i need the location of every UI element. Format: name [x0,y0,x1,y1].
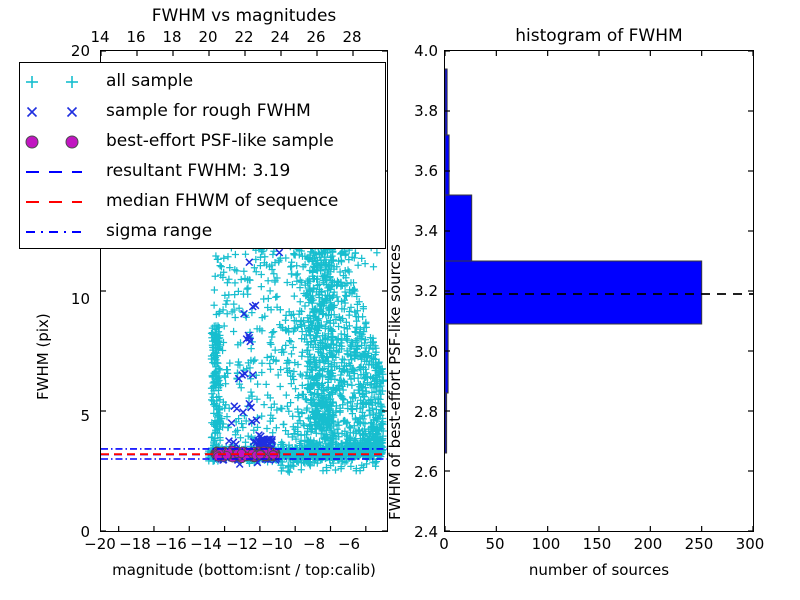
legend-marker-dashed-blue [20,157,98,187]
legend-label: sigma range [106,221,212,241]
bottom-ticklabel: −18 [118,537,152,552]
left-panel: FWHM vs magnitudes 14 16 18 20 22 24 26 … [0,0,400,600]
hist-ticklabel: 3.4 [400,224,438,239]
legend-label: best-effort PSF-like sample [106,131,334,151]
right-panel-xticklabels: 0 50 100 150 200 250 300 [444,537,754,555]
legend-label: resultant FWHM: 3.19 [106,161,290,181]
left-ticklabel-10: 10 [58,292,90,307]
bottom-ticklabel: −16 [154,537,188,552]
right-panel: histogram of FWHM FWHM of best-effort PS… [400,0,800,600]
histogram-canvas [445,51,753,531]
right-panel-yticklabels: 4.0 3.8 3.6 3.4 3.2 3.0 2.8 2.6 2.4 [400,0,444,600]
histogram-bars [445,69,702,453]
top-ticklabel: 14 [88,30,112,45]
legend-item[interactable]: median FHWM of sequence [20,187,385,217]
hist-xticklabel: 0 [430,537,458,552]
left-panel-bottom-ticklabels: −20 −18 −16 −14 −12 −10 −8 −6 [100,537,388,555]
left-panel-title: FWHM vs magnitudes [100,8,388,25]
hist-xticklabel: 100 [528,537,564,552]
hist-ticklabel: 4.0 [400,44,438,59]
hist-ticklabel: 2.6 [400,465,438,480]
bottom-ticklabel: −10 [260,537,294,552]
top-ticklabel: 18 [160,30,184,45]
top-ticklabel: 16 [124,30,148,45]
hist-ticklabel: 3.6 [400,164,438,179]
hist-ticklabel: 3.2 [400,284,438,299]
right-panel-title: histogram of FWHM [444,28,754,45]
legend-label: all sample [106,71,193,91]
legend-item[interactable]: resultant FWHM: 3.19 [20,157,385,187]
legend-marker-plus [20,67,98,97]
legend: all sample sample for rough FWHM [19,62,386,249]
hist-xticklabel: 250 [681,537,717,552]
hist-ticklabel: 3.8 [400,104,438,119]
legend-item[interactable]: sample for rough FWHM [20,97,385,127]
bottom-ticklabel: −14 [189,537,223,552]
top-ticklabel: 28 [340,30,364,45]
histogram-plot-area [444,50,754,532]
top-ticklabel: 26 [304,30,328,45]
legend-label: median FHWM of sequence [106,191,338,211]
legend-label: sample for rough FWHM [106,101,311,121]
bottom-ticklabel: −6 [335,537,363,552]
top-ticklabel: 24 [268,30,292,45]
legend-marker-dashed-red [20,187,98,217]
hist-ticklabel: 2.8 [400,405,438,420]
left-panel-top-ticklabels: 14 16 18 20 22 24 26 28 [100,30,388,48]
legend-marker-circle [20,127,98,157]
figure-canvas: FWHM vs magnitudes 14 16 18 20 22 24 26 … [0,0,800,600]
right-panel-xlabel: number of sources [444,563,754,578]
legend-item[interactable]: all sample [20,67,385,97]
left-panel-xlabel: magnitude (bottom:isnt / top:calib) [100,563,388,578]
top-ticklabel: 20 [196,30,220,45]
hist-ticklabel: 3.0 [400,345,438,360]
legend-marker-dashdot-blue [20,217,98,247]
legend-marker-cross [20,97,98,127]
hist-xticklabel: 200 [630,537,666,552]
legend-item[interactable]: best-effort PSF-like sample [20,127,385,157]
legend-item[interactable]: sigma range [20,217,385,247]
hist-xticklabel: 50 [481,537,509,552]
bottom-ticklabel: −8 [300,537,328,552]
hist-xticklabel: 150 [579,537,615,552]
bottom-ticklabel: −20 [83,537,117,552]
top-ticklabel: 22 [232,30,256,45]
left-panel-ylabel: FWHM (pix) [36,313,51,400]
bottom-ticklabel: −12 [225,537,259,552]
hist-xticklabel: 300 [732,537,768,552]
left-ticklabel-20: 20 [58,44,90,59]
left-ticklabel-5: 5 [58,409,90,424]
